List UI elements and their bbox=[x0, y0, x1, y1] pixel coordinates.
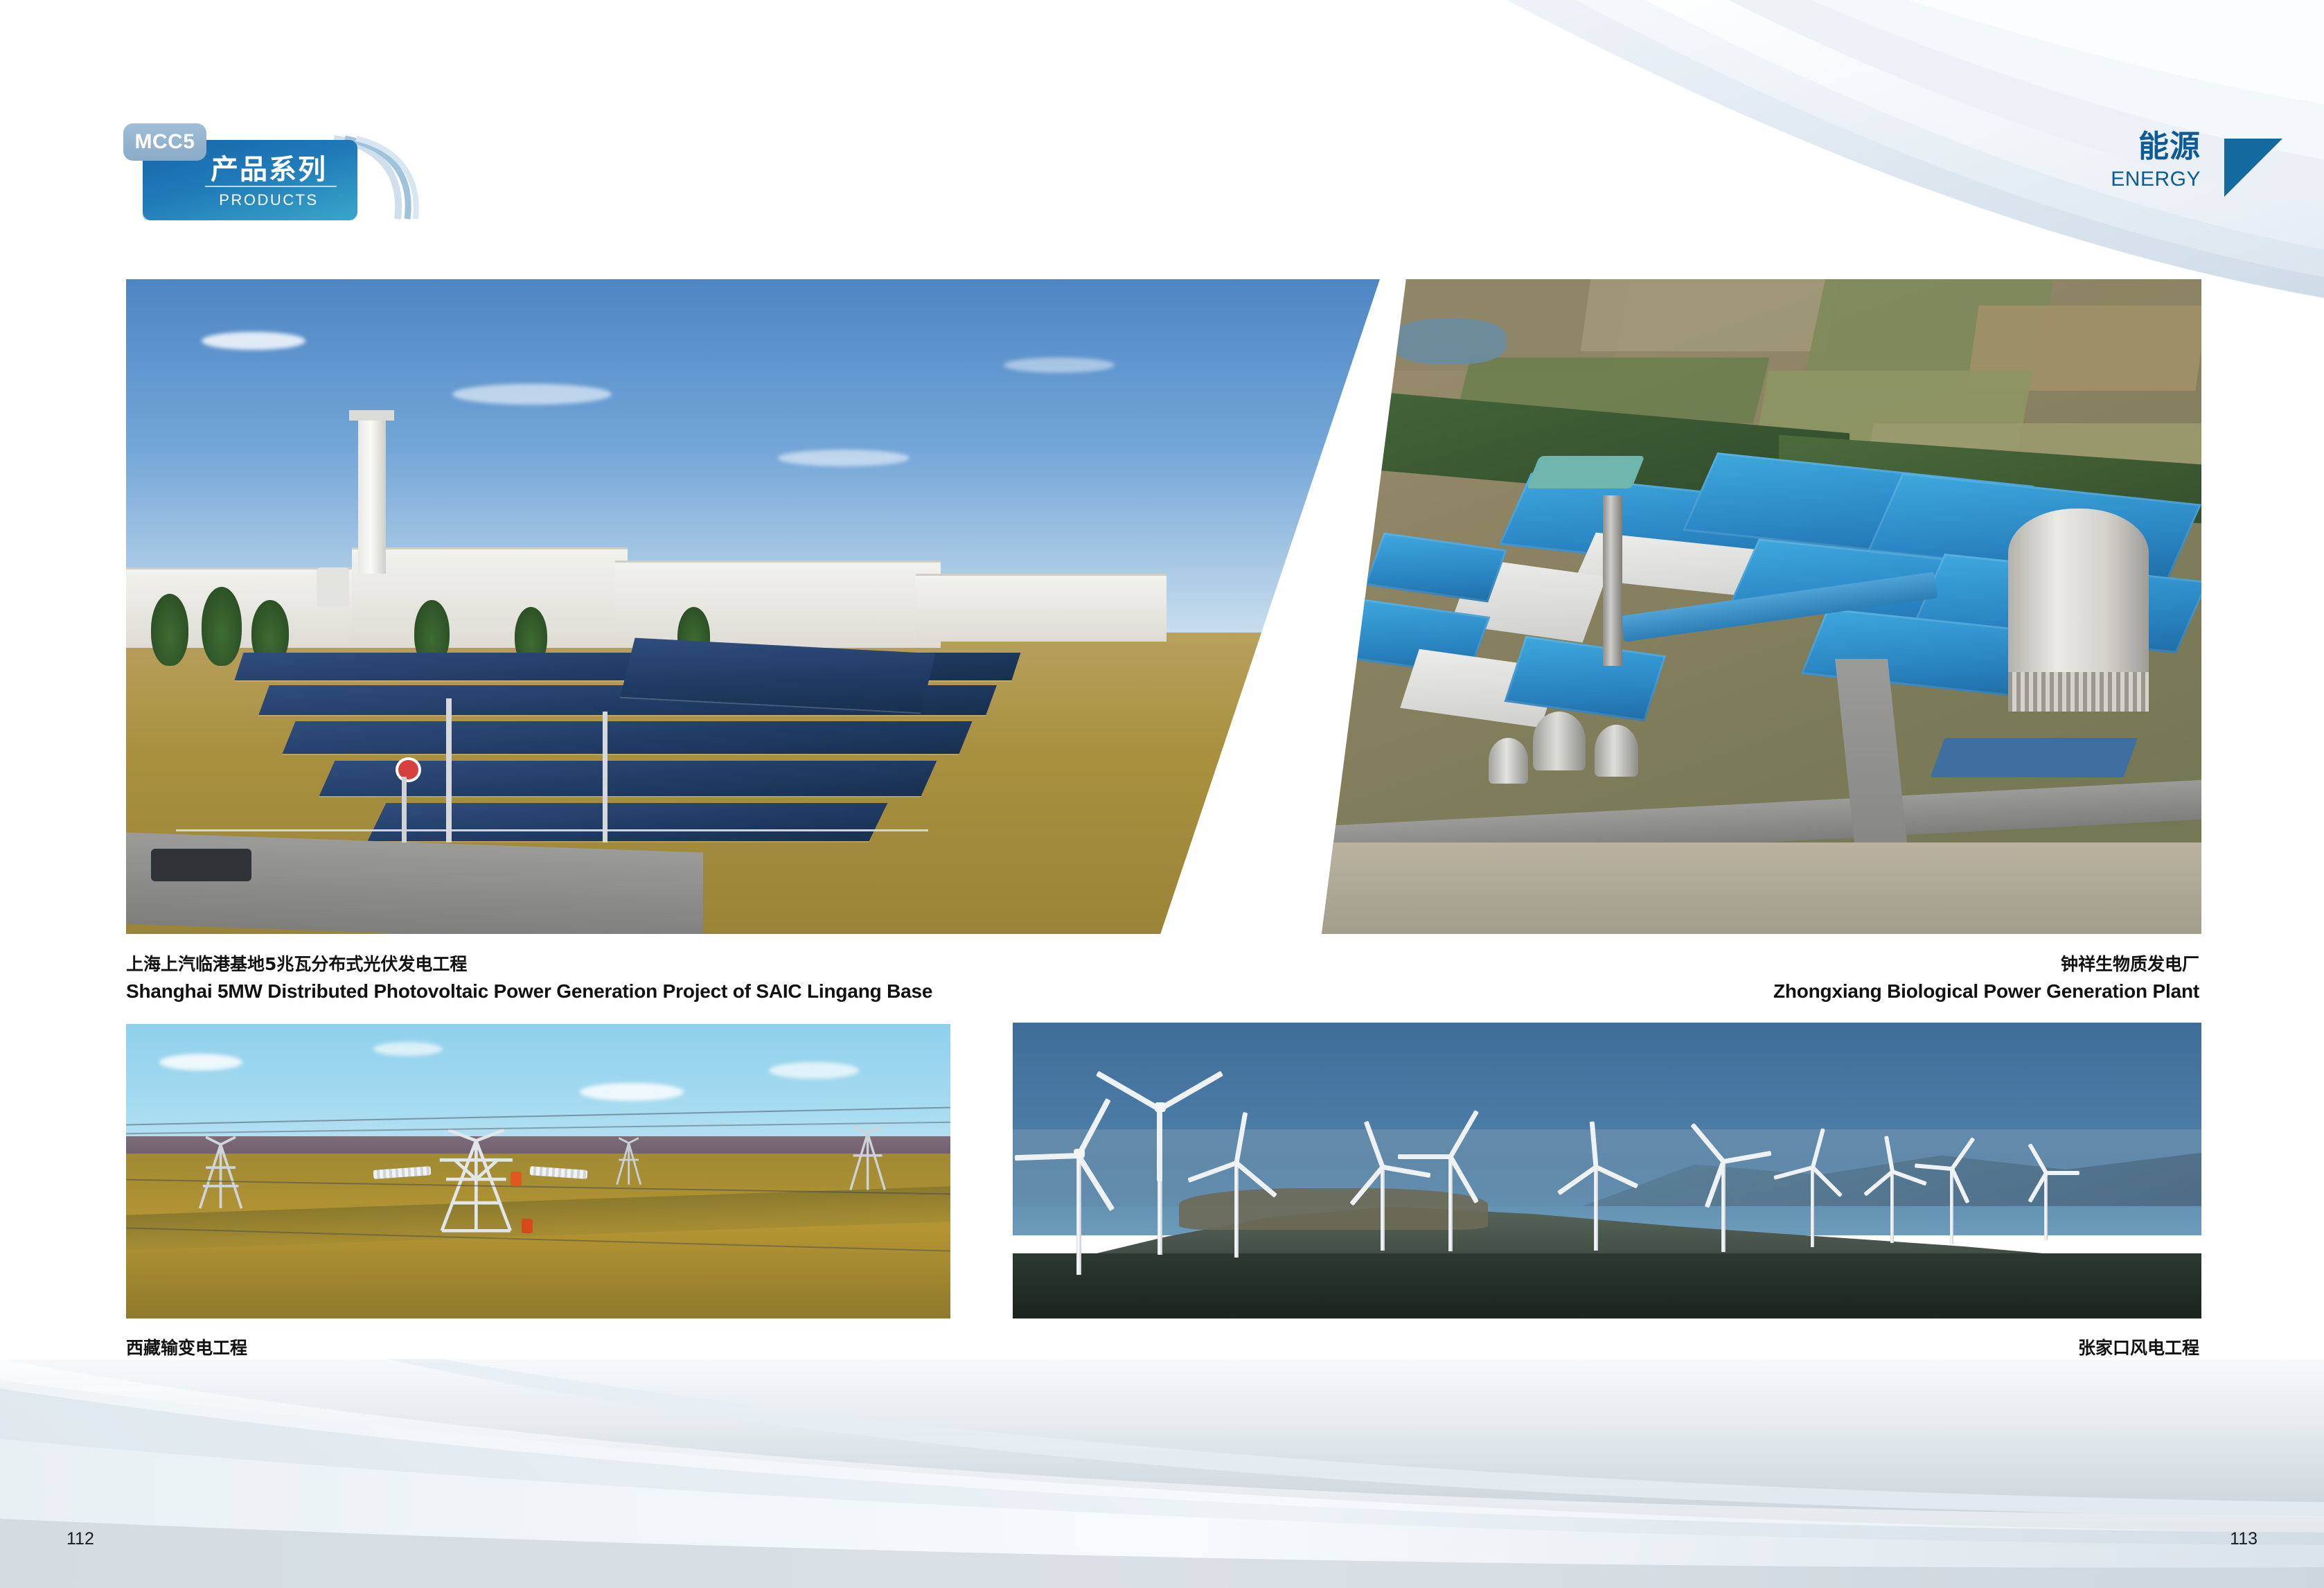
badge-title-en: PRODUCTS bbox=[186, 191, 352, 209]
caption-cn: 上海上汽临港基地5兆瓦分布式光伏发电工程 bbox=[126, 952, 932, 977]
page-number-left: 112 bbox=[66, 1529, 94, 1549]
wind-turbine bbox=[2041, 1158, 2052, 1240]
wind-turbine bbox=[1443, 1135, 1458, 1251]
caption-cn: 张家口风电工程 bbox=[1786, 1336, 2199, 1361]
caption-en: Zhongxiang Biological Power Generation P… bbox=[1773, 977, 2199, 1006]
caption-en: Power Transmissiom And Transformation Pr… bbox=[126, 1361, 663, 1390]
wind-turbine bbox=[1375, 1147, 1390, 1251]
wind-turbine bbox=[1070, 1129, 1088, 1275]
section-title-cn: 能源 bbox=[2111, 130, 2201, 164]
photo-biomass-plant bbox=[1322, 279, 2201, 934]
section-title-en: ENERGY bbox=[2111, 168, 2201, 191]
wind-turbine bbox=[1717, 1141, 1730, 1252]
page-number-right: 113 bbox=[2230, 1529, 2258, 1549]
wind-turbine bbox=[1807, 1150, 1819, 1247]
photo-wind-farm bbox=[1013, 1023, 2201, 1318]
badge-title-cn: 产品系列 bbox=[186, 147, 352, 187]
caption-cn: 钟祥生物质发电厂 bbox=[1773, 952, 2199, 977]
badge-code-label: MCC5 bbox=[134, 130, 195, 154]
section-triangle-icon bbox=[2224, 139, 2282, 197]
caption-en: Zhangjiakou Wind Power Engineering Proje… bbox=[1786, 1361, 2199, 1390]
wind-turbine bbox=[1589, 1147, 1603, 1251]
caption-wind-farm: 张家口风电工程 Zhangjiakou Wind Power Engineeri… bbox=[1786, 1336, 2199, 1390]
caption-biomass-plant: 钟祥生物质发电厂 Zhongxiang Biological Power Gen… bbox=[1773, 952, 2199, 1006]
caption-transmission-xizang: 西藏输变电工程 Power Transmissiom And Transform… bbox=[126, 1336, 663, 1390]
products-badge: 产品系列 PRODUCTS MCC5 bbox=[123, 123, 414, 220]
badge-divider bbox=[205, 186, 337, 187]
wind-turbine bbox=[1886, 1156, 1899, 1243]
wind-turbine bbox=[1946, 1153, 1958, 1244]
photo-solar-pv bbox=[126, 279, 1380, 934]
brochure-page: 产品系列 PRODUCTS MCC5 能源 ENERGY bbox=[0, 0, 2324, 1588]
caption-cn: 西藏输变电工程 bbox=[126, 1336, 663, 1361]
caption-solar-pv: 上海上汽临港基地5兆瓦分布式光伏发电工程 Shanghai 5MW Distri… bbox=[126, 952, 932, 1006]
wind-turbine bbox=[1229, 1141, 1244, 1258]
caption-en: Shanghai 5MW Distributed Photovoltaic Po… bbox=[126, 977, 932, 1006]
photo-transmission-xizang bbox=[126, 1024, 950, 1318]
wind-turbine bbox=[1151, 1082, 1169, 1255]
section-title: 能源 ENERGY bbox=[2111, 130, 2201, 191]
badge-code-tab: MCC5 bbox=[123, 123, 206, 161]
bottom-decorative-swoosh bbox=[0, 1359, 2324, 1588]
